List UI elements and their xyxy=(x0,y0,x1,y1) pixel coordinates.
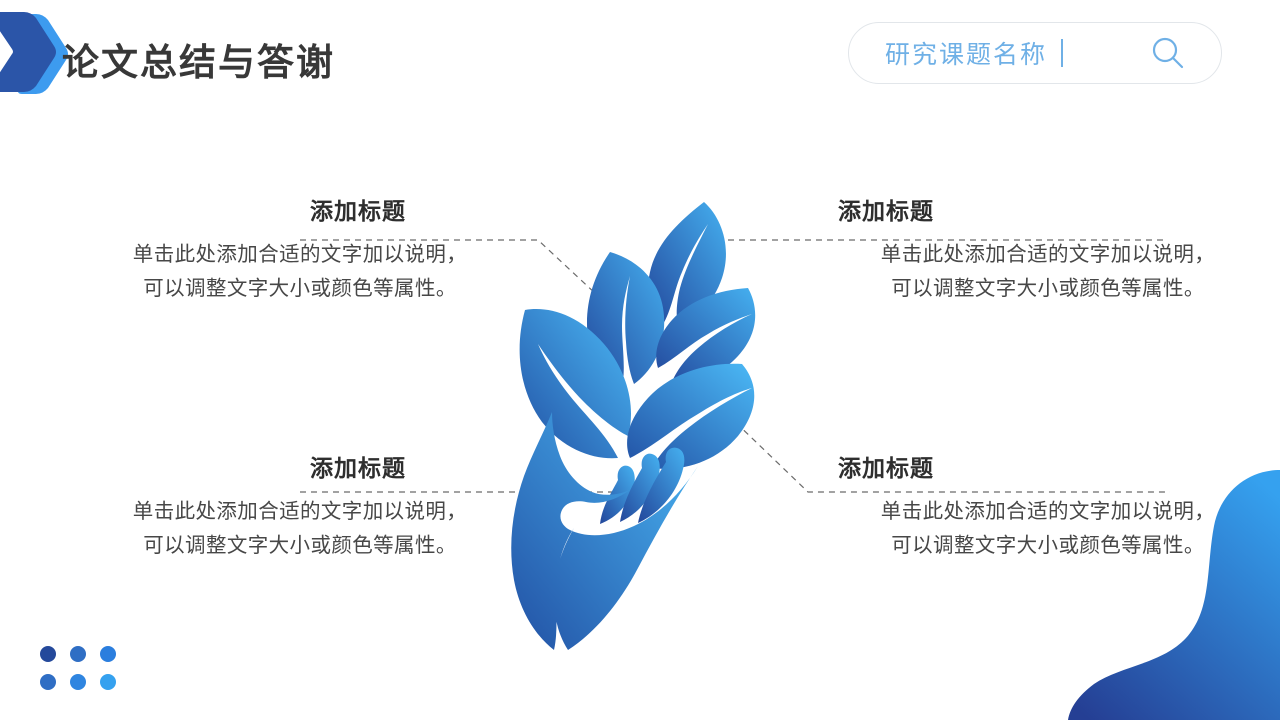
block-body-line1: 单击此处添加合适的文字加以说明， xyxy=(133,243,467,266)
search-box[interactable]: 研究课题名称 xyxy=(848,22,1222,84)
block-body: 单击此处添加合适的文字加以说明， 可以调整文字大小或颜色等属性。 xyxy=(90,238,510,304)
block-body: 单击此处添加合适的文字加以说明， 可以调整文字大小或颜色等属性。 xyxy=(90,495,510,561)
block-body-line1: 单击此处添加合适的文字加以说明， xyxy=(133,500,467,523)
block-body-line2: 可以调整文字大小或颜色等属性。 xyxy=(90,272,510,305)
dot xyxy=(100,646,116,662)
block-title: 添加标题 xyxy=(838,198,1258,224)
dot xyxy=(70,674,86,690)
dot xyxy=(40,646,56,662)
block-title: 添加标题 xyxy=(90,198,510,224)
dot-grid-decoration xyxy=(40,646,116,690)
dot xyxy=(40,674,56,690)
text-caret xyxy=(1061,39,1063,67)
search-icon[interactable] xyxy=(1151,36,1185,70)
block-body-line2: 可以调整文字大小或颜色等属性。 xyxy=(90,529,510,562)
block-title: 添加标题 xyxy=(90,455,510,481)
dot xyxy=(100,674,116,690)
header-arrow-decoration xyxy=(0,8,70,100)
hand-holding-plant-icon xyxy=(470,180,790,670)
page-title: 论文总结与答谢 xyxy=(62,32,335,86)
dot xyxy=(70,646,86,662)
info-block-bottom-left: 添加标题 单击此处添加合适的文字加以说明， 可以调整文字大小或颜色等属性。 xyxy=(90,455,510,562)
search-input[interactable]: 研究课题名称 xyxy=(885,35,1047,71)
info-block-top-right: 添加标题 单击此处添加合适的文字加以说明， 可以调整文字大小或颜色等属性。 xyxy=(838,198,1258,305)
corner-blob-decoration xyxy=(1050,460,1280,720)
info-block-top-left: 添加标题 单击此处添加合适的文字加以说明， 可以调整文字大小或颜色等属性。 xyxy=(90,198,510,305)
block-body-line2: 可以调整文字大小或颜色等属性。 xyxy=(838,272,1258,305)
block-body-line1: 单击此处添加合适的文字加以说明， xyxy=(881,243,1215,266)
block-body: 单击此处添加合适的文字加以说明， 可以调整文字大小或颜色等属性。 xyxy=(838,238,1258,304)
slide-canvas: 论文总结与答谢 研究课题名称 添加标题 单击此处添加合适的文字加以说明， 可以调… xyxy=(0,0,1280,720)
